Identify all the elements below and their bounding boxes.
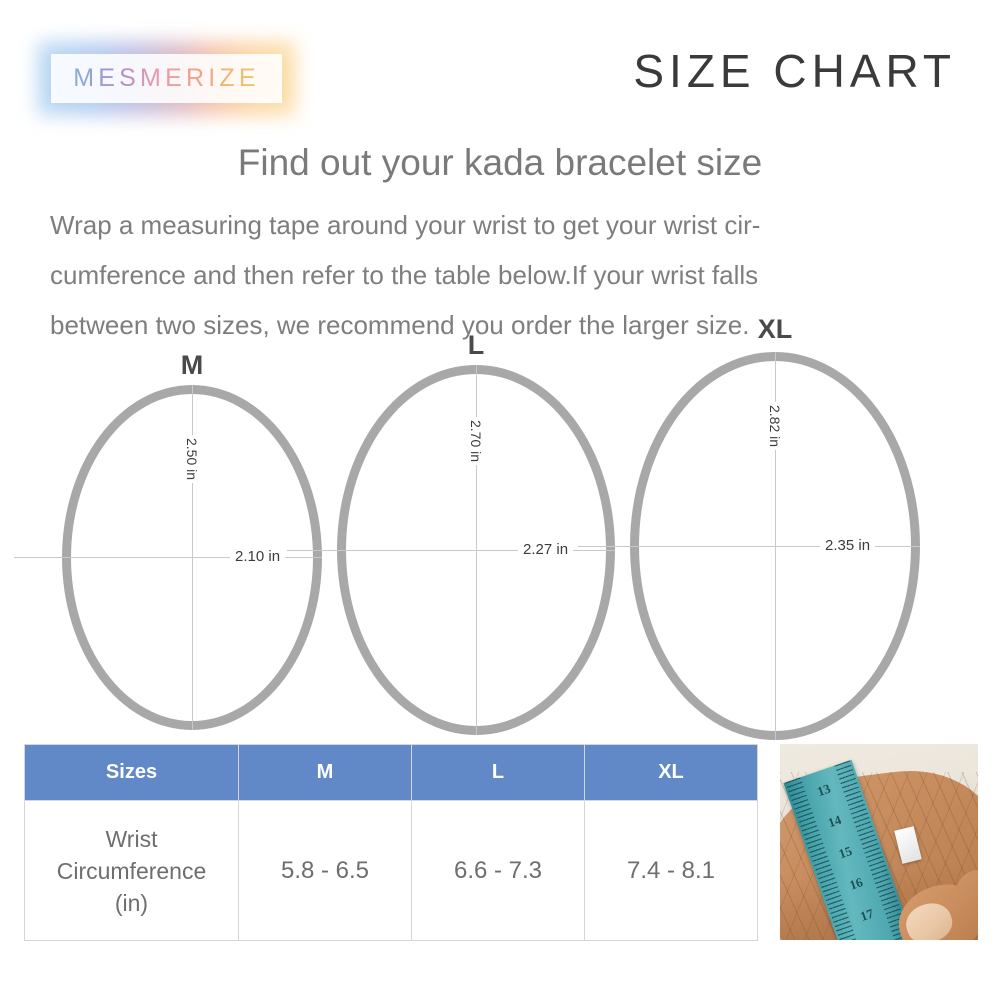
table-row: Wrist Circumference (in) 5.8 - 6.5 6.6 -… <box>25 801 758 941</box>
bracelet-ovals-diagram: M 2.50 in 2.10 in L 2.70 in 2.27 in XL 2… <box>0 352 1000 747</box>
instructions-line: Wrap a measuring tape around your wrist … <box>50 200 950 250</box>
size-chart-page: MESMERIZE SIZE CHART Find out your kada … <box>0 0 1000 1000</box>
size-table: Sizes M L XL Wrist Circumference (in) 5.… <box>24 744 758 941</box>
table-header-l: L <box>412 745 585 801</box>
table-header-xl: XL <box>585 745 758 801</box>
oval-size-label-l: L <box>337 330 615 361</box>
section-heading: Find out your kada bracelet size <box>0 142 1000 184</box>
oval-group-l: L 2.70 in 2.27 in <box>337 365 615 735</box>
table-header-sizes: Sizes <box>25 745 239 801</box>
oval-height-label-l: 2.70 in <box>468 417 484 465</box>
oval-width-label-l: 2.27 in <box>518 541 573 558</box>
cell-wrist-l: 6.6 - 7.3 <box>412 801 585 941</box>
oval-width-label-m: 2.10 in <box>230 548 285 565</box>
oval-group-m: M 2.50 in 2.10 in <box>62 385 322 730</box>
cell-wrist-m: 5.8 - 6.5 <box>239 801 412 941</box>
logo-wordmark: MESMERIZE <box>43 47 290 110</box>
oval-height-label-m: 2.50 in <box>184 435 200 483</box>
row-label-line2: Circumference <box>25 855 238 887</box>
table-header-m: M <box>239 745 412 801</box>
cell-wrist-xl: 7.4 - 8.1 <box>585 801 758 941</box>
wrist-measurement-photo: 13 14 15 16 17 18 <box>780 744 978 940</box>
oval-group-xl: XL 2.82 in 2.35 in <box>630 352 920 740</box>
table-header-row: Sizes M L XL <box>25 745 758 801</box>
brand-logo: MESMERIZE <box>43 47 290 110</box>
page-title: SIZE CHART <box>633 44 956 98</box>
instructions-line: cumference and then refer to the table b… <box>50 250 950 300</box>
oval-width-label-xl: 2.35 in <box>820 537 875 554</box>
oval-height-label-xl: 2.82 in <box>767 402 783 450</box>
oval-size-label-xl: XL <box>630 314 920 345</box>
row-label-line3: (in) <box>25 887 238 919</box>
row-label-wrist-circumference: Wrist Circumference (in) <box>25 801 239 941</box>
row-label-line1: Wrist <box>25 823 238 855</box>
oval-size-label-m: M <box>62 350 322 381</box>
